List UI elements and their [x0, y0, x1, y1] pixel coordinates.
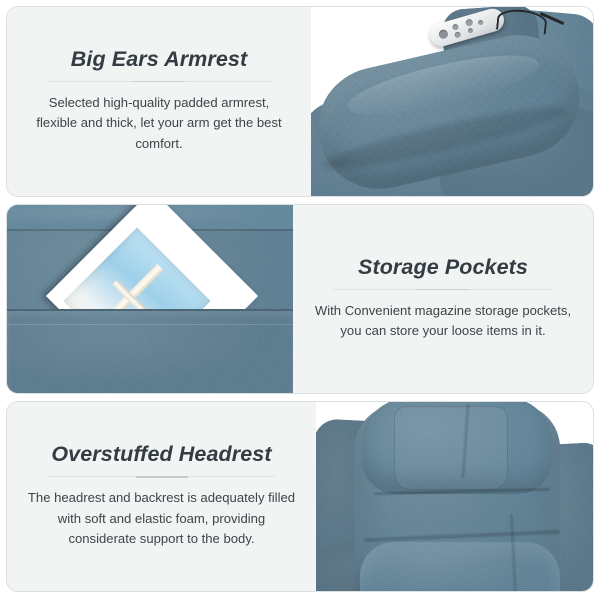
feature-heading: Overstuffed Headrest	[51, 443, 271, 467]
remote-button-right	[467, 28, 473, 34]
photo-canvas: S	[7, 205, 293, 394]
feature-text-block: Storage Pockets With Convenient magazine…	[293, 205, 593, 394]
remote-button-main	[438, 29, 449, 40]
photo-canvas	[316, 402, 593, 591]
feature-photo-storage-pocket: S	[7, 205, 293, 394]
feature-photo-armrest	[311, 7, 593, 196]
remote-button-power	[478, 19, 484, 25]
storage-pocket-edge	[7, 324, 293, 393]
photo-canvas	[311, 7, 593, 196]
feature-description: With Convenient magazine storage pockets…	[310, 301, 576, 342]
remote-button-up	[452, 23, 459, 30]
heading-divider	[47, 81, 270, 82]
feature-description: The headrest and backrest is adequately …	[26, 488, 298, 550]
feature-text-block: Big Ears Armrest Selected high-quality p…	[7, 7, 311, 196]
feature-heading: Storage Pockets	[358, 256, 528, 280]
headrest-panel	[394, 406, 508, 490]
remote-button-left	[465, 18, 474, 27]
feature-card-storage-pockets: Storage Pockets With Convenient magazine…	[6, 204, 594, 395]
feature-photo-headrest	[316, 402, 593, 591]
feature-description: Selected high-quality padded armrest, fl…	[28, 93, 290, 155]
heading-divider	[48, 476, 275, 477]
heading-divider	[333, 289, 553, 290]
feature-card-big-ears-armrest: Big Ears Armrest Selected high-quality p…	[6, 6, 594, 197]
feature-heading: Big Ears Armrest	[71, 48, 247, 72]
lumbar-cushion	[360, 542, 560, 591]
feature-text-block: Overstuffed Headrest The headrest and ba…	[7, 402, 316, 591]
feature-card-overstuffed-headrest: Overstuffed Headrest The headrest and ba…	[6, 401, 594, 592]
feature-infographic: Big Ears Armrest Selected high-quality p…	[0, 0, 600, 600]
remote-button-down	[454, 31, 461, 38]
